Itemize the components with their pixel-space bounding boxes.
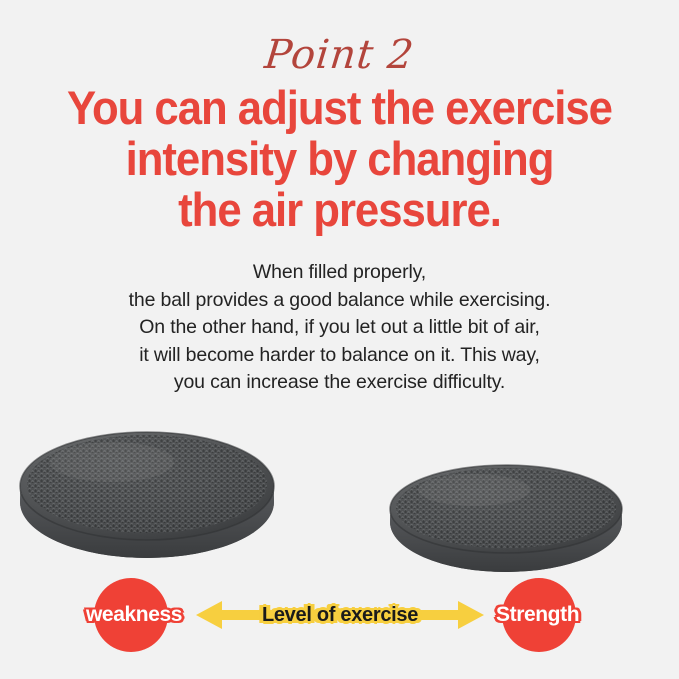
headline-line-3: the air pressure. xyxy=(37,184,642,235)
exercise-level-scale: Level of exercise weakness Strength xyxy=(0,578,679,656)
eyebrow-script-label: Point 2 xyxy=(0,30,679,80)
body-line-3: On the other hand, if you let out a litt… xyxy=(40,314,639,342)
body-paragraph: When filled properly, the ball provides … xyxy=(40,259,639,397)
balance-cushion-inflated-image xyxy=(16,428,278,574)
scale-arrow-label: Level of exercise xyxy=(196,600,484,630)
body-line-2: the ball provides a good balance while e… xyxy=(40,287,639,315)
balance-cushion-deflated-image xyxy=(386,464,626,576)
body-line-5: you can increase the exercise difficulty… xyxy=(40,369,639,397)
body-line-1: When filled properly, xyxy=(40,259,639,287)
strength-badge-label: Strength xyxy=(496,600,579,630)
headline-line-1: You can adjust the exercise xyxy=(37,82,642,133)
infographic-canvas: Point 2 You can adjust the exercise inte… xyxy=(0,0,679,679)
body-line-4: it will become harder to balance on it. … xyxy=(40,342,639,370)
page-title: You can adjust the exercise intensity by… xyxy=(37,82,642,235)
weakness-badge-label: weakness xyxy=(86,600,182,630)
headline-line-2: intensity by changing xyxy=(37,133,642,184)
